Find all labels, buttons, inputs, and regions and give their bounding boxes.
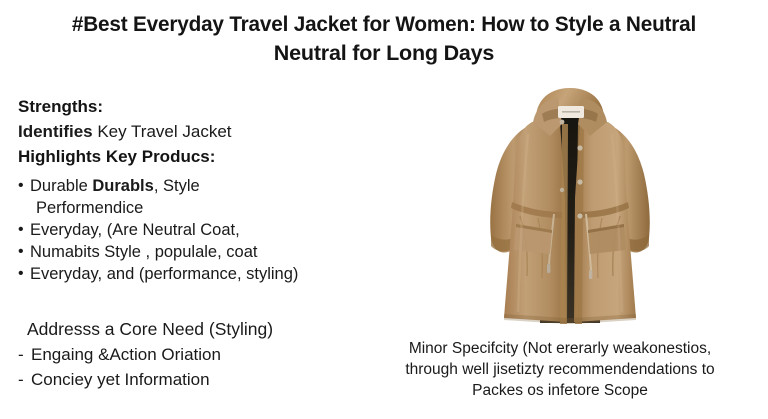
list-item-text-post: , Style bbox=[154, 177, 200, 195]
drawstring-tip-right bbox=[589, 270, 592, 279]
product-image-jacket bbox=[470, 78, 670, 328]
list-item-continuation: Performendice bbox=[18, 197, 378, 219]
bullet-marker-icon: • bbox=[18, 219, 30, 241]
snap-button-3 bbox=[577, 213, 582, 218]
highlights-bullet-list: • Durable Durabls, Style Performendice •… bbox=[18, 175, 378, 285]
list-item: • Everyday, (Are Neutral Coat, bbox=[18, 219, 378, 241]
snap-button-2 bbox=[577, 179, 582, 184]
dash-marker-icon: - bbox=[18, 367, 31, 392]
list-item: • Durable Durabls, Style bbox=[18, 175, 378, 197]
list-item-text: Engaing &Action Oriation bbox=[31, 342, 221, 367]
identifies-value: Key Travel Jacket bbox=[93, 122, 232, 141]
snap-button-5 bbox=[560, 188, 564, 192]
bullet-marker-icon: • bbox=[18, 175, 30, 197]
page-title: #Best Everyday Travel Jacket for Women: … bbox=[14, 10, 754, 68]
product-caption: Minor Specifcity (Not ererarly weakonest… bbox=[358, 338, 762, 401]
list-item-text: Numabits Style , populale, coat bbox=[30, 241, 378, 263]
core-need-heading: Addresss a Core Need (Styling) bbox=[18, 316, 378, 342]
core-need-panel: Addresss a Core Need (Styling) - Engaing… bbox=[18, 316, 378, 392]
list-item-text-pre: Durable bbox=[30, 177, 92, 195]
list-item-text-bold: Durabls bbox=[92, 177, 153, 195]
list-item-text: Conciey yet Information bbox=[31, 367, 210, 392]
snap-button-1 bbox=[577, 145, 582, 150]
highlights-heading: Highlights Key Producs: bbox=[18, 144, 378, 169]
list-item: • Everyday, and (performance, styling) bbox=[18, 263, 378, 285]
page-title-line-2: Neutral for Long Days bbox=[14, 39, 754, 68]
snap-button-4 bbox=[560, 120, 565, 125]
strengths-heading: Strengths: bbox=[18, 94, 378, 119]
product-caption-line-1: Minor Specifcity (Not ererarly weakonest… bbox=[358, 338, 762, 359]
bullet-marker-icon: • bbox=[18, 241, 30, 263]
identifies-label: Identifies bbox=[18, 122, 93, 141]
list-item-text: Everyday, and (performance, styling) bbox=[30, 263, 378, 285]
brand-label-text-line bbox=[562, 111, 580, 113]
product-caption-line-2: through well jisetizty recommendendation… bbox=[358, 359, 762, 380]
strengths-panel: Strengths: Identifies Key Travel Jacket … bbox=[18, 94, 378, 285]
product-caption-line-3: Packes os infetore Scope bbox=[358, 380, 762, 401]
drawstring-tip-left bbox=[547, 264, 550, 273]
identifies-line: Identifies Key Travel Jacket bbox=[18, 119, 378, 144]
list-item: - Engaing &Action Oriation bbox=[18, 342, 378, 367]
list-item: - Conciey yet Information bbox=[18, 367, 378, 392]
bullet-marker-icon: • bbox=[18, 263, 30, 285]
jacket-illustration bbox=[470, 78, 670, 328]
dash-marker-icon: - bbox=[18, 342, 31, 367]
product-review-slide: #Best Everyday Travel Jacket for Women: … bbox=[0, 0, 768, 419]
page-title-line-1: #Best Everyday Travel Jacket for Women: … bbox=[27, 10, 741, 39]
list-item-text: Durable Durabls, Style bbox=[30, 175, 378, 197]
list-item-text: Everyday, (Are Neutral Coat, bbox=[30, 219, 378, 241]
list-item: • Numabits Style , populale, coat bbox=[18, 241, 378, 263]
